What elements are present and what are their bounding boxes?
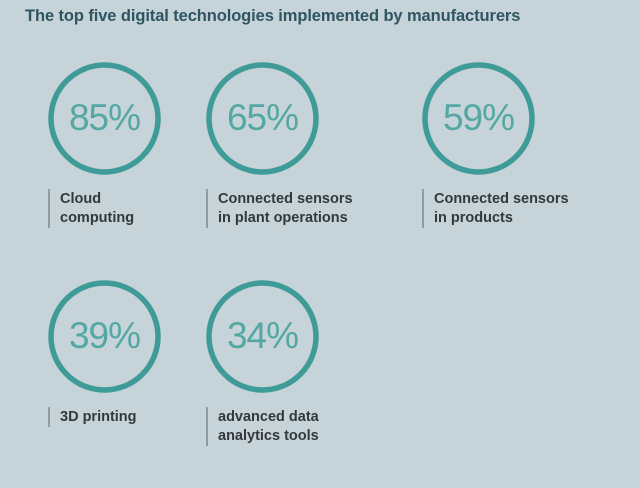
stat-label-group: Connected sensors in plant operations bbox=[206, 189, 400, 228]
percent-ring: 34% bbox=[206, 280, 319, 393]
stat-label: Connected sensors in products bbox=[434, 189, 569, 228]
stat-label: Cloud computing bbox=[60, 189, 134, 228]
percent-ring: 65% bbox=[206, 62, 319, 175]
percent-ring: 59% bbox=[422, 62, 535, 175]
stat-label: Connected sensors in plant operations bbox=[218, 189, 353, 228]
stat-card-3d-printing: 39% 3D printing bbox=[0, 270, 192, 427]
label-divider-rule bbox=[206, 407, 208, 446]
page-title: The top five digital technologies implem… bbox=[25, 7, 520, 26]
label-divider-rule bbox=[48, 189, 50, 228]
percent-value: 59% bbox=[422, 62, 535, 175]
stats-row-top: 85% Cloud computing 65% Connected sensor… bbox=[0, 52, 640, 270]
infographic-root: The top five digital technologies implem… bbox=[0, 0, 640, 473]
stat-label: 3D printing bbox=[60, 407, 137, 427]
label-divider-rule bbox=[422, 189, 424, 228]
stats-row-bottom: 39% 3D printing 34% advanced data analyt… bbox=[0, 270, 640, 488]
label-divider-rule bbox=[206, 189, 208, 228]
stat-card-connected-sensors-products: 59% Connected sensors in products bbox=[400, 52, 625, 228]
stat-label-group: Connected sensors in products bbox=[422, 189, 625, 228]
percent-value: 85% bbox=[48, 62, 161, 175]
stat-card-connected-sensors-plant-operations: 65% Connected sensors in plant operation… bbox=[192, 52, 400, 228]
stat-label: advanced data analytics tools bbox=[218, 407, 319, 446]
stat-label-group: Cloud computing bbox=[48, 189, 192, 228]
stat-card-advanced-data-analytics-tools: 34% advanced data analytics tools bbox=[192, 270, 400, 446]
stat-label-group: 3D printing bbox=[48, 407, 192, 427]
label-divider-rule bbox=[48, 407, 50, 427]
percent-ring: 85% bbox=[48, 62, 161, 175]
stat-card-cloud-computing: 85% Cloud computing bbox=[0, 52, 192, 228]
percent-ring: 39% bbox=[48, 280, 161, 393]
percent-value: 34% bbox=[206, 280, 319, 393]
stat-label-group: advanced data analytics tools bbox=[206, 407, 400, 446]
stats-grid: 85% Cloud computing 65% Connected sensor… bbox=[0, 52, 640, 488]
percent-value: 39% bbox=[48, 280, 161, 393]
percent-value: 65% bbox=[206, 62, 319, 175]
